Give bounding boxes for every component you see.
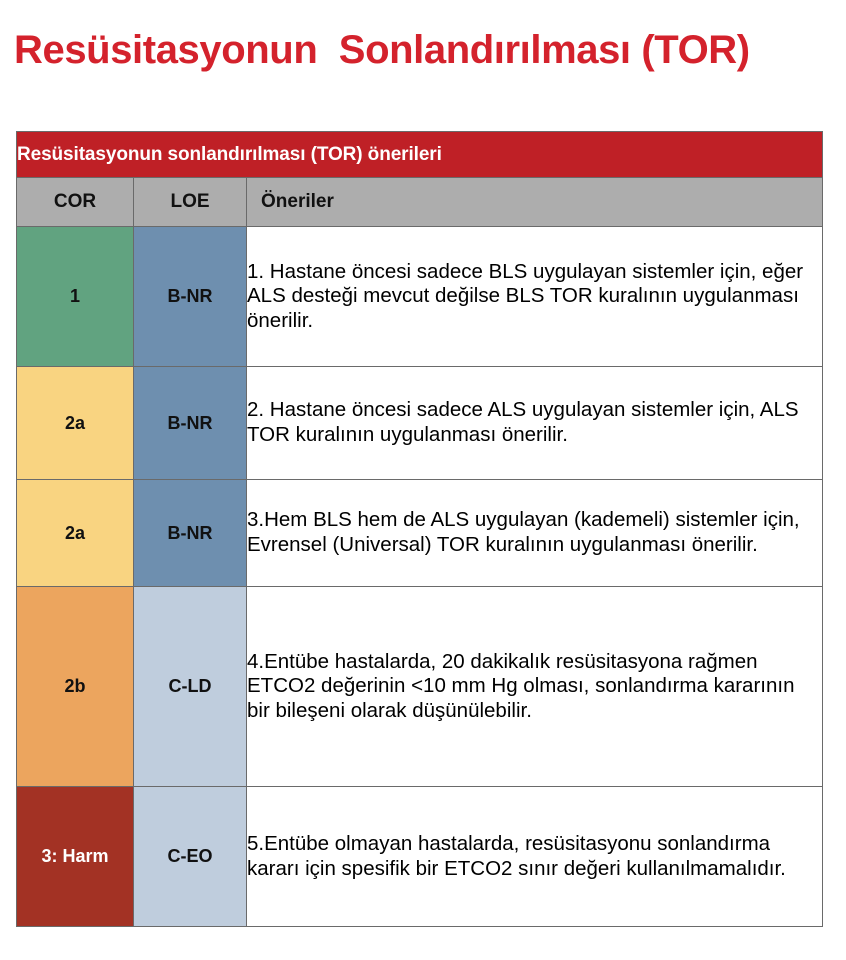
- loe-value: C-LD: [134, 587, 247, 787]
- tor-page: Resüsitasyonun Sonlandırılması (TOR) Res…: [0, 0, 846, 960]
- column-header-oneriler: Öneriler: [247, 178, 823, 227]
- recommendation-text: 3.Hem BLS hem de ALS uygulayan (kademeli…: [247, 480, 823, 587]
- column-header-loe: LOE: [134, 178, 247, 227]
- table-header-row: COR LOE Öneriler: [17, 178, 823, 227]
- cor-value: 1: [17, 227, 134, 367]
- table-row: 2b C-LD 4.Entübe hastalarda, 20 dakikalı…: [17, 587, 823, 787]
- loe-value: C-EO: [134, 787, 247, 927]
- column-header-cor: COR: [17, 178, 134, 227]
- table-row: 2a B-NR 3.Hem BLS hem de ALS uygulayan (…: [17, 480, 823, 587]
- recommendation-text: 4.Entübe hastalarda, 20 dakikalık resüsi…: [247, 587, 823, 787]
- table-banner: Resüsitasyonun sonlandırılması (TOR) öne…: [17, 132, 823, 178]
- table-banner-row: Resüsitasyonun sonlandırılması (TOR) öne…: [17, 132, 823, 178]
- loe-value: B-NR: [134, 367, 247, 480]
- recommendation-text: 2. Hastane öncesi sadece ALS uygulayan s…: [247, 367, 823, 480]
- cor-value: 2b: [17, 587, 134, 787]
- loe-value: B-NR: [134, 227, 247, 367]
- table-row: 1 B-NR 1. Hastane öncesi sadece BLS uygu…: [17, 227, 823, 367]
- loe-value: B-NR: [134, 480, 247, 587]
- page-title: Resüsitasyonun Sonlandırılması (TOR): [14, 29, 814, 72]
- recommendation-text: 5.Entübe olmayan hastalarda, resüsitasyo…: [247, 787, 823, 927]
- tor-recommendations-table: Resüsitasyonun sonlandırılması (TOR) öne…: [16, 131, 823, 927]
- table-row: 3: Harm C-EO 5.Entübe olmayan hastalarda…: [17, 787, 823, 927]
- cor-value: 2a: [17, 367, 134, 480]
- table-row: 2a B-NR 2. Hastane öncesi sadece ALS uyg…: [17, 367, 823, 480]
- recommendation-text: 1. Hastane öncesi sadece BLS uygulayan s…: [247, 227, 823, 367]
- cor-value: 3: Harm: [17, 787, 134, 927]
- cor-value: 2a: [17, 480, 134, 587]
